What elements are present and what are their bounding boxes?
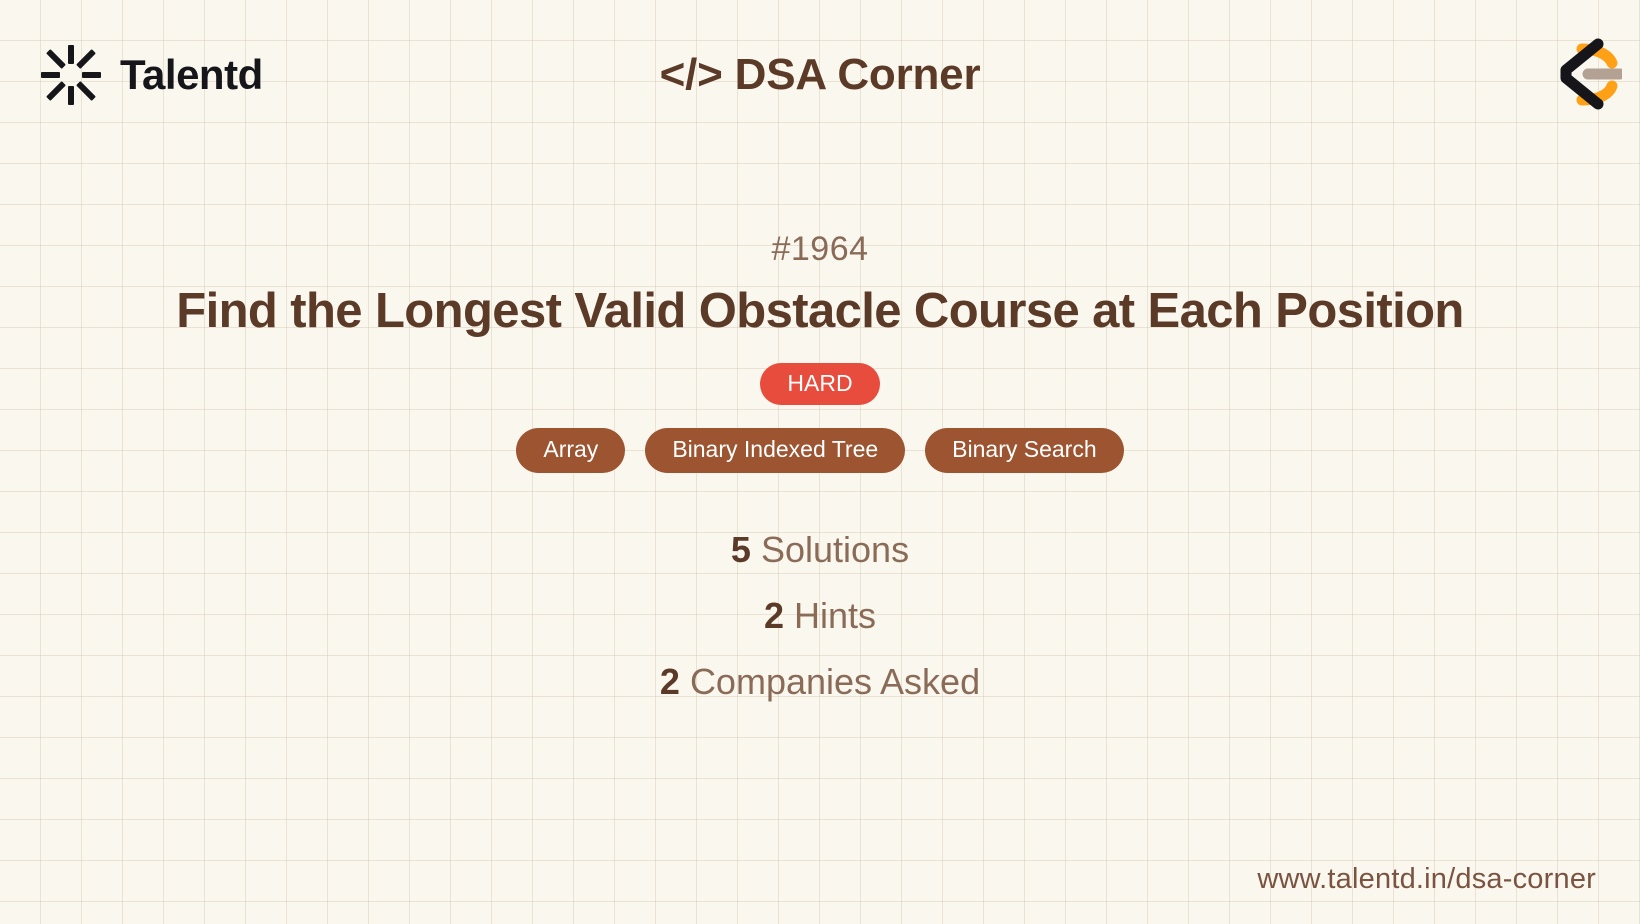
topic-tag-array[interactable]: Array: [516, 428, 625, 472]
topic-tag-binary-indexed-tree[interactable]: Binary Indexed Tree: [645, 428, 905, 472]
problem-title: Find the Longest Valid Obstacle Course a…: [0, 285, 1640, 339]
page-header: Talentd </> DSA Corner: [0, 0, 1640, 160]
footer-url[interactable]: www.talentd.in/dsa-corner: [1257, 863, 1596, 896]
stat-companies-value: 2: [660, 661, 680, 702]
stat-solutions-label: Solutions: [761, 529, 909, 570]
stat-companies: 2 Companies Asked: [0, 649, 1640, 715]
topic-tag-binary-search[interactable]: Binary Search: [925, 428, 1123, 472]
stat-solutions-value: 5: [731, 529, 751, 570]
page-title-text: DSA Corner: [735, 50, 981, 99]
difficulty-row: HARD: [0, 363, 1640, 405]
page-title: </> DSA Corner: [0, 50, 1640, 100]
difficulty-badge: HARD: [760, 363, 879, 405]
problem-card: #1964 Find the Longest Valid Obstacle Co…: [0, 230, 1640, 715]
code-brackets-icon: </>: [660, 50, 723, 99]
problem-stats: 5 Solutions 2 Hints 2 Companies Asked: [0, 517, 1640, 716]
stat-hints: 2 Hints: [0, 583, 1640, 649]
problem-number: #1964: [0, 230, 1640, 269]
stat-hints-label: Hints: [794, 595, 876, 636]
topic-tags-row: Array Binary Indexed Tree Binary Search: [0, 428, 1640, 472]
stat-hints-value: 2: [764, 595, 784, 636]
leetcode-logo-icon: [1536, 30, 1622, 116]
stat-solutions: 5 Solutions: [0, 517, 1640, 583]
stat-companies-label: Companies Asked: [690, 661, 980, 702]
